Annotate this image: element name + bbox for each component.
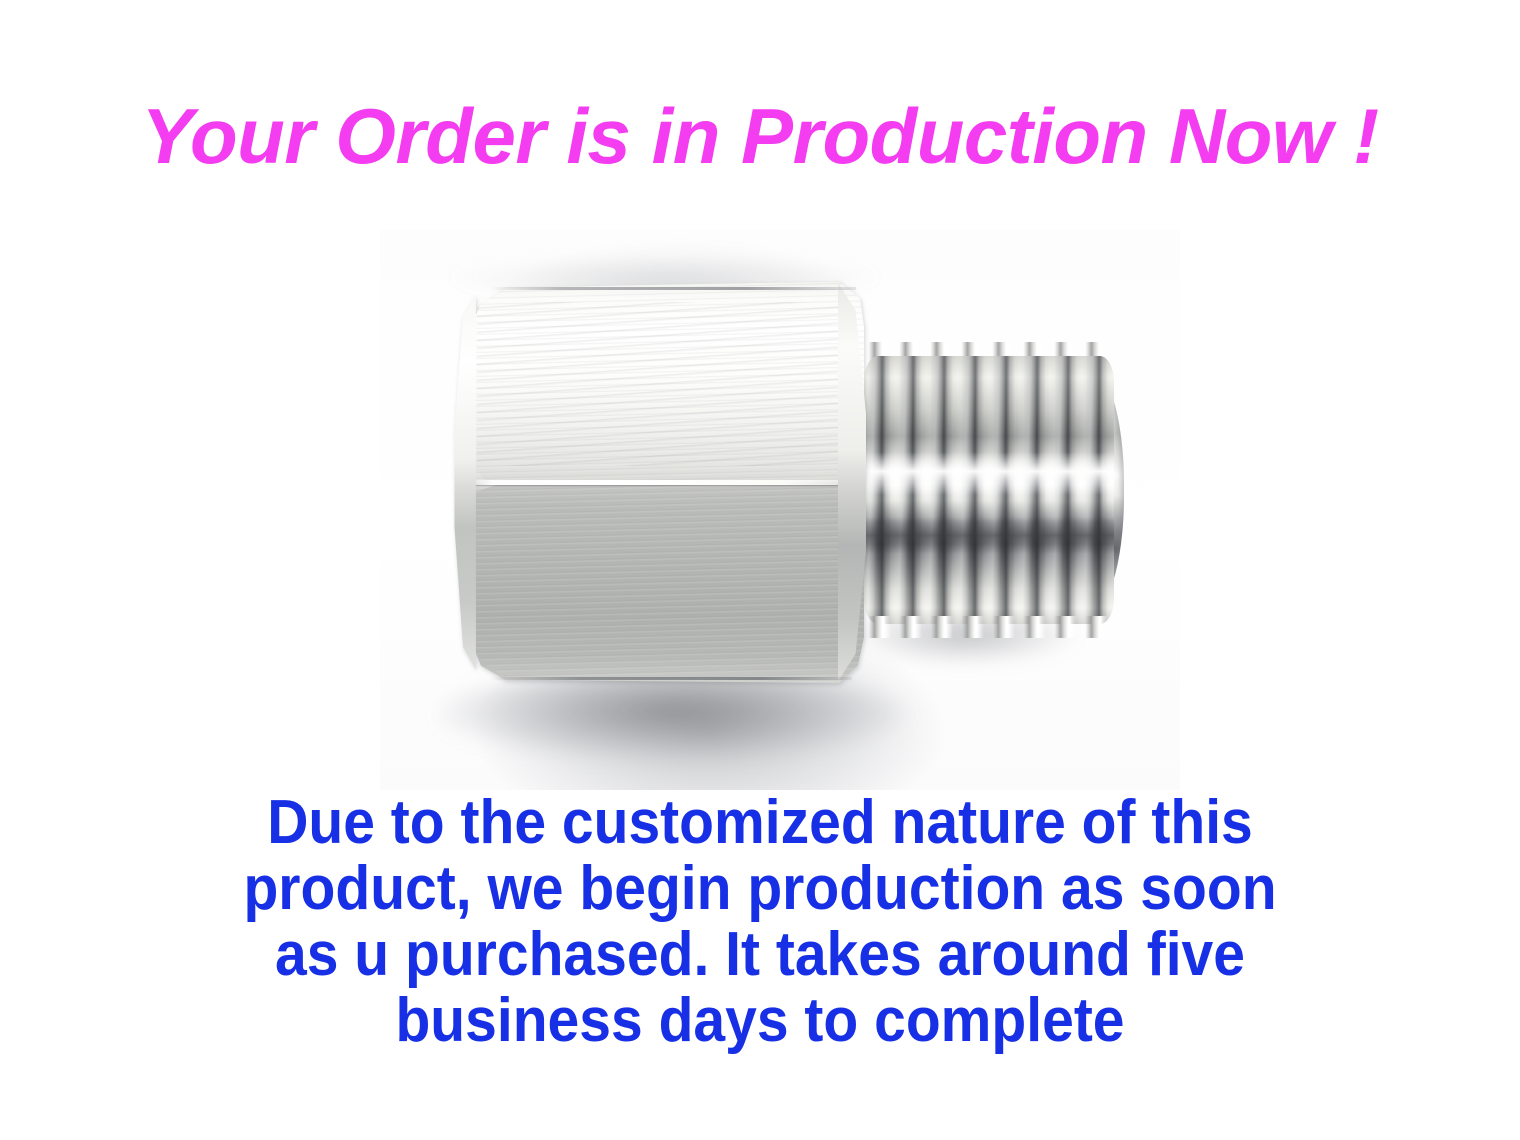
notice-line-2: product, we begin production as soon (61, 856, 1459, 922)
hex-left-chamfer (454, 294, 475, 669)
headline-order-in-production: Your Order is in Production Now ! (0, 96, 1520, 178)
thread-crests-bottom (864, 616, 1114, 638)
hex-facet-lower (452, 482, 864, 686)
promo-image-canvas: Your Order is in Production Now ! (0, 0, 1520, 1140)
hex-top-rim-line (489, 287, 856, 290)
notice-line-4: business days to complete (61, 988, 1459, 1054)
notice-line-3: as u purchased. It takes around five (61, 922, 1459, 988)
product-photo (380, 230, 1180, 790)
production-notice-text: Due to the customized nature of this pro… (61, 790, 1459, 1054)
hex-facet-edge-highlight (468, 480, 864, 485)
thread-groove-highlights (864, 356, 1114, 624)
hex-facet-upper (452, 278, 864, 490)
hex-body (452, 278, 864, 686)
notice-line-1: Due to the customized nature of this (61, 790, 1459, 856)
male-thread-section (842, 340, 1128, 640)
thread-barrel (864, 356, 1114, 624)
hex-bottom-rim-line (489, 677, 852, 680)
